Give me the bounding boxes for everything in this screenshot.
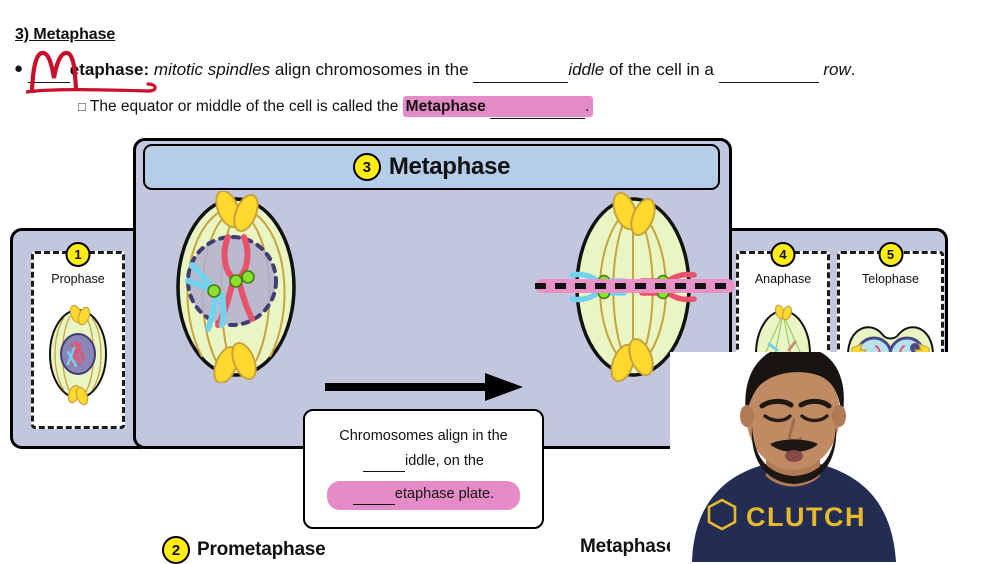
sub-bullet-line: □ The equator or middle of the cell is c… [78, 98, 593, 119]
lecture-notes-area: 3) Metaphase ● etaphase: mitotic spindle… [0, 0, 1000, 132]
highlight-word: Metaphase [406, 98, 486, 115]
thumbnail-label-telophase: Telophase [840, 272, 941, 286]
header-title: Metaphase [389, 153, 510, 181]
callout-line-1: Chromosomes align in the [339, 428, 507, 444]
stage-number-badge-2: 2 [162, 536, 190, 564]
callout-line-2-text: iddle, on the [405, 453, 484, 469]
blank-plate [490, 100, 585, 119]
thumbnail-prophase[interactable]: 1 Prophase [31, 251, 125, 429]
sub-period: . [585, 98, 589, 115]
thumbnail-label-anaphase: Anaphase [739, 272, 827, 286]
callout-pill-plate: etaphase plate. [327, 481, 520, 510]
prometaphase-cell-illustration [162, 191, 310, 383]
callout-line-2: iddle, on the [363, 453, 484, 472]
presenter-figure: CLUTCH [670, 352, 1000, 562]
label-prometaphase-text: Prometaphase [197, 539, 326, 561]
bullet-glyph: ● [14, 60, 23, 77]
stage-number-badge-3: 3 [353, 153, 381, 181]
webcam-presenter-overlay: CLUTCH [670, 352, 1000, 562]
sub-bullet-text: The equator or middle of the cell is cal… [90, 98, 398, 115]
stage-number-badge-5: 5 [878, 242, 903, 267]
label-metaphase: Metaphase [580, 536, 676, 558]
blank-middle [473, 62, 568, 83]
bullet-line-metaphase: ● etaphase: mitotic spindles align chrom… [14, 60, 855, 83]
bullet-period: . [851, 60, 856, 79]
highlight-metaphase-plate: Metaphase . [403, 96, 594, 117]
blank-m-letter [28, 62, 70, 83]
bullet-text-1: align chromosomes in the [275, 60, 469, 79]
italic-mitotic-spindles: mitotic spindles [154, 60, 270, 79]
bullet-text-2: of the cell in a [609, 60, 714, 79]
stage-number-badge-4: 4 [771, 242, 796, 267]
right-arrow-icon [325, 371, 525, 403]
bullet-term: etaphase [70, 60, 144, 79]
metaphase-plate-dashes [535, 280, 735, 292]
callout-blank-middle [363, 455, 405, 472]
page-title: 3) Metaphase [15, 26, 115, 44]
metaphase-callout-box: Chromosomes align in the iddle, on the e… [303, 409, 544, 529]
italic-iddle: iddle [568, 60, 604, 79]
label-metaphase-text: Metaphase [580, 536, 676, 557]
stage-number-badge-1: 1 [66, 242, 91, 267]
prophase-cell-illustration [34, 294, 122, 414]
label-prometaphase: 2 Prometaphase [162, 536, 326, 564]
bullet-colon: : [144, 60, 150, 79]
blank-single-file [719, 62, 819, 83]
callout-line-3-text: etaphase plate. [395, 486, 494, 502]
metaphase-header-bar: 3 Metaphase [143, 144, 720, 190]
square-bullet-glyph: □ [78, 99, 86, 114]
thumbnail-label-prophase: Prophase [34, 272, 122, 286]
callout-blank-plate [353, 488, 395, 505]
italic-row: row [823, 60, 850, 79]
shirt-text: CLUTCH [746, 502, 866, 532]
